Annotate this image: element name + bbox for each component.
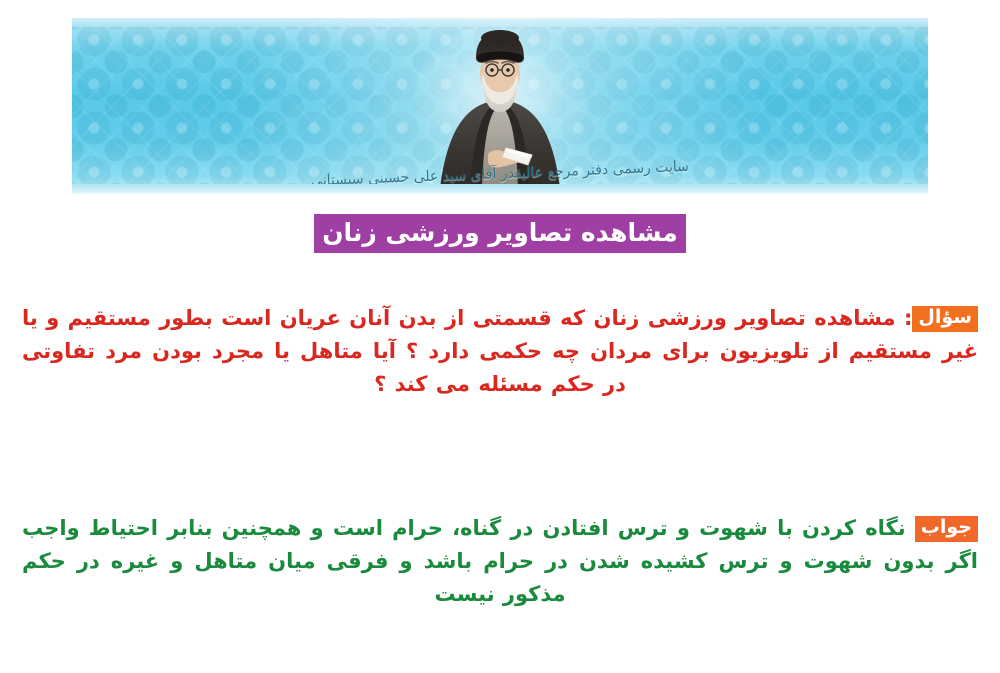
site-banner: سایت رسمی دفتر مرجع عالیقدر آقای سید علی… — [72, 18, 928, 194]
question-label-colon: : — [904, 306, 912, 330]
answer-paragraph: جواب نگاه کردن با شهوت و ترس افتادن در گ… — [22, 512, 978, 612]
answer-label-badge: جواب — [915, 516, 978, 542]
question-block: سؤال: مشاهده تصاویر ورزشی زنان که قسمتی … — [22, 302, 978, 402]
page-title-wrapper: مشاهده تصاویر ورزشی زنان — [0, 214, 1000, 253]
question-label-badge: سؤال — [912, 306, 978, 332]
answer-block: جواب نگاه کردن با شهوت و ترس افتادن در گ… — [22, 512, 978, 612]
page-title: مشاهده تصاویر ورزشی زنان — [314, 214, 686, 253]
question-paragraph: سؤال: مشاهده تصاویر ورزشی زنان که قسمتی … — [22, 302, 978, 402]
banner-bottom-edge — [72, 184, 928, 194]
answer-text: نگاه کردن با شهوت و ترس افتادن در گناه، … — [22, 516, 978, 606]
page-root: سایت رسمی دفتر مرجع عالیقدر آقای سید علی… — [0, 0, 1000, 673]
question-text: مشاهده تصاویر ورزشی زنان که قسمتی از بدن… — [22, 306, 978, 396]
